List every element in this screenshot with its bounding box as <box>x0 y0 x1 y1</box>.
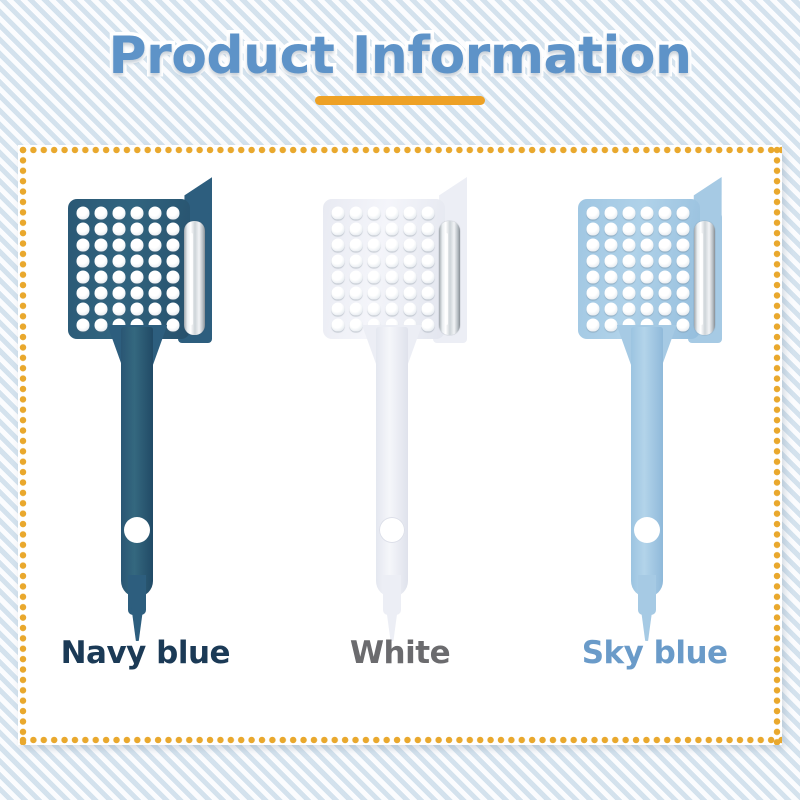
bristle-grid <box>584 205 692 333</box>
product-label-sky-blue: Sky blue <box>550 635 760 671</box>
title-underline-accent <box>315 96 485 105</box>
hanging-hole <box>634 517 660 543</box>
peeler-blade-slot <box>445 233 448 325</box>
product-card: Navy blue <box>18 145 782 745</box>
peeler-blade <box>694 221 715 335</box>
peeler-blade <box>439 221 460 335</box>
handle-shaft <box>376 327 408 597</box>
peeler-blade-slot <box>700 233 703 325</box>
handle-shaft <box>121 327 153 597</box>
bristle-grid <box>329 205 437 333</box>
product-variant-row: Navy blue <box>18 145 782 745</box>
page-title: Product Information <box>0 0 800 84</box>
brush-peeler-image-white <box>315 177 485 639</box>
product-label-white: White <box>295 635 505 671</box>
product-label-navy-blue: Navy blue <box>40 635 250 671</box>
product-variant-white[interactable]: White <box>295 145 505 705</box>
brush-peeler-image-sky-blue <box>570 177 740 639</box>
handle-shaft <box>631 327 663 597</box>
bristle-grid <box>74 205 182 333</box>
product-variant-sky-blue[interactable]: Sky blue <box>550 145 760 705</box>
peeler-blade-slot <box>190 233 193 325</box>
hanging-hole <box>379 517 405 543</box>
page-header: Product Information <box>0 0 800 140</box>
peeler-blade <box>184 221 205 335</box>
brush-peeler-image-navy-blue <box>60 177 230 639</box>
product-variant-navy-blue[interactable]: Navy blue <box>40 145 250 705</box>
